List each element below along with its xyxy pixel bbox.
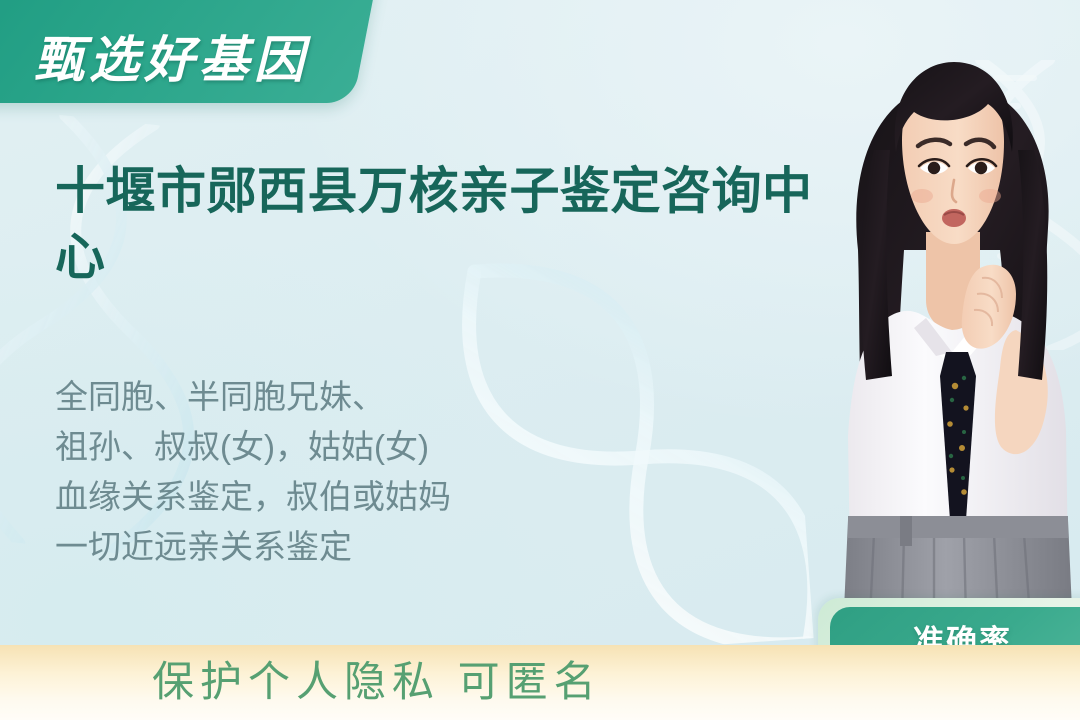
description-line: 全同胞、半同胞兄妹、 — [55, 372, 575, 422]
promo-poster: 甄选好基因 十堰市郧西县万核亲子鉴定咨询中心 全同胞、半同胞兄妹、 祖孙、叔叔(… — [0, 0, 1080, 720]
description-line: 一切近远亲关系鉴定 — [55, 522, 575, 572]
brand-ribbon-content: 甄选好基因 — [0, 0, 365, 103]
page-title: 十堰市郧西县万核亲子鉴定咨询中心 — [55, 158, 855, 290]
service-description: 全同胞、半同胞兄妹、 祖孙、叔叔(女)，姑姑(女) 血缘关系鉴定，叔伯或姑妈 一… — [55, 372, 575, 573]
description-line: 祖孙、叔叔(女)，姑姑(女) — [55, 422, 575, 472]
brand-slogan: 甄选好基因 — [34, 35, 309, 85]
privacy-text: 保护个人隐私 可匿名 — [152, 652, 602, 713]
description-line: 血缘关系鉴定，叔伯或姑妈 — [55, 472, 575, 522]
